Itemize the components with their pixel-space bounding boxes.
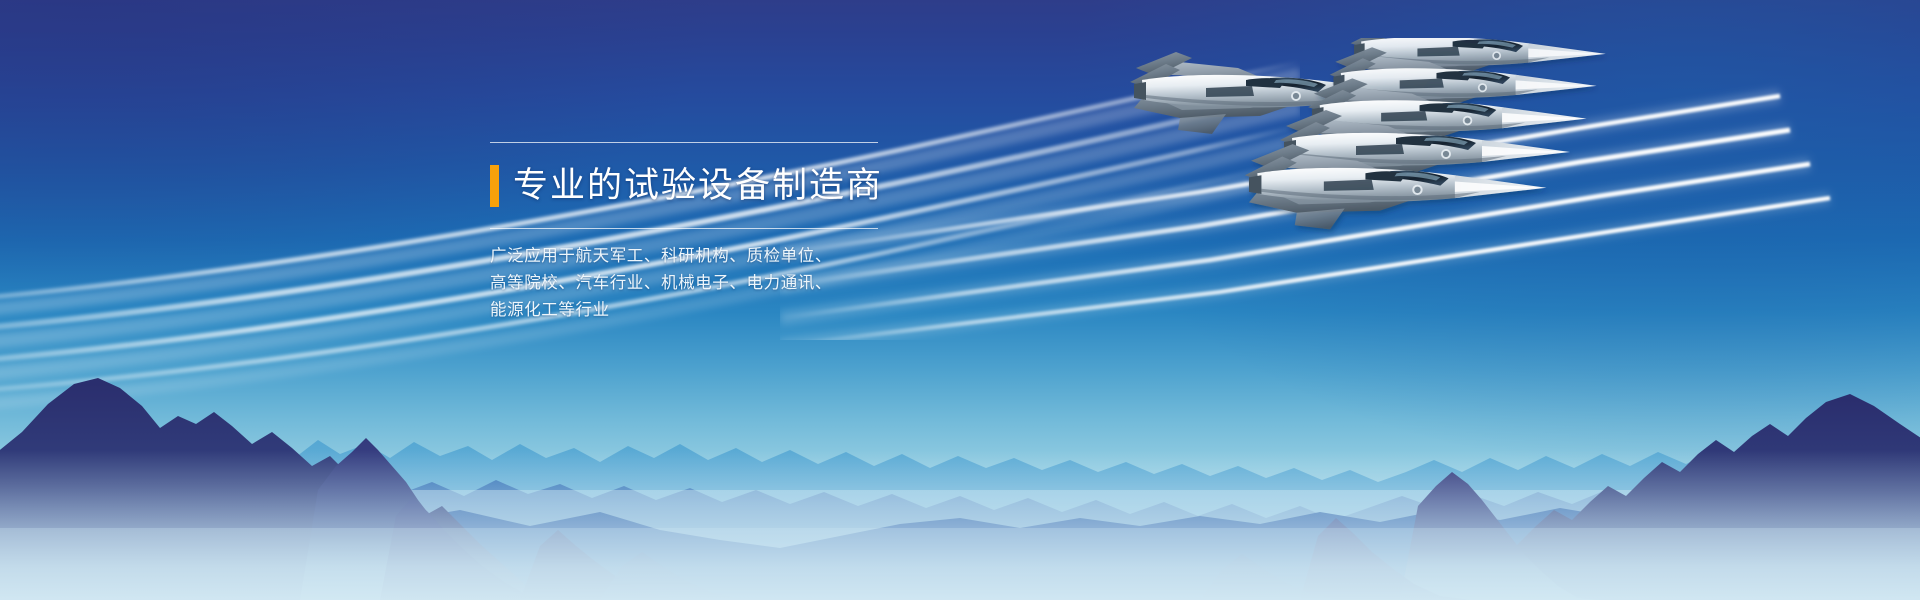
page-title: 专业的试验设备制造商 [513, 165, 883, 207]
hero-subtext: 广泛应用于航天军工、科研机构、质检单位、 高等院校、汽车行业、机械电子、电力通讯… [490, 243, 910, 324]
divider-top [490, 142, 878, 143]
subtext-line-1: 广泛应用于航天军工、科研机构、质检单位、 [490, 243, 910, 270]
headline-row: 专业的试验设备制造商 [490, 157, 910, 215]
divider-bottom [490, 228, 878, 229]
subtext-line-2: 高等院校、汽车行业、机械电子、电力通讯、 [490, 270, 910, 297]
hero-copy: 专业的试验设备制造商 广泛应用于航天军工、科研机构、质检单位、 高等院校、汽车行… [490, 142, 910, 324]
accent-bar [490, 165, 499, 207]
mountain-range [0, 340, 1920, 600]
subtext-line-3: 能源化工等行业 [490, 297, 910, 324]
hero-banner: 专业的试验设备制造商 广泛应用于航天军工、科研机构、质检单位、 高等院校、汽车行… [0, 0, 1920, 600]
jet-formation [1120, 38, 1920, 288]
